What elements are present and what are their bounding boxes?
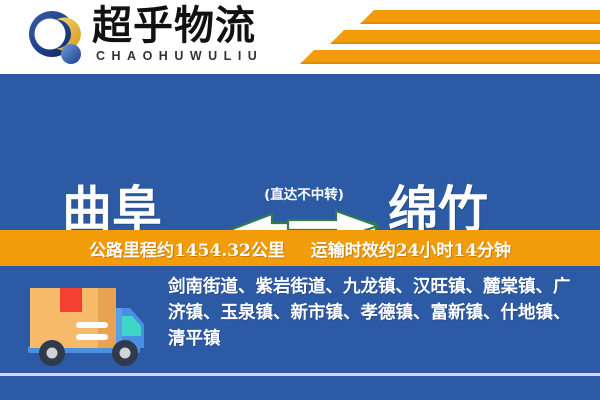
duration-label: 运输时效约24小时14分钟 [311,241,511,261]
circle-crescent-logo-icon [26,9,84,67]
direct-note: (直达不中转) [228,186,380,204]
distance-text: 公路里程约1454.32公里 运输时效约24小时14分钟 [89,236,511,261]
coverage-areas-text: 剑南街道、紫岩街道、九龙镇、汉旺镇、麓棠镇、广济镇、玉泉镇、新市镇、孝德镇、富新… [168,274,586,352]
route-band: 曲阜 (直达不中转) 【往返运输】 绵竹 [0,74,600,230]
bottom-divider [0,373,600,376]
stripe-1 [360,10,600,24]
distance-bar: 公路里程约1454.32公里 运输时效约24小时14分钟 [0,230,600,266]
stripe-2 [330,30,600,44]
brand-name-en: CHAOHUWULIU [96,49,263,63]
logistics-route-banner: 超乎物流 CHAOHUWULIU 曲阜 (直达不中转) 【往返运输】 绵竹 公路… [0,0,600,400]
header-stripes-decoration [270,8,600,68]
header: 超乎物流 CHAOHUWULIU [0,0,600,74]
delivery-truck-icon [22,278,152,370]
brand-name-cn: 超乎物流 [92,4,256,48]
coverage-section: 剑南街道、紫岩街道、九龙镇、汉旺镇、麓棠镇、广济镇、玉泉镇、新市镇、孝德镇、富新… [0,266,600,400]
stripe-3 [300,50,600,64]
mileage-label: 公路里程约1454.32公里 [89,241,285,261]
